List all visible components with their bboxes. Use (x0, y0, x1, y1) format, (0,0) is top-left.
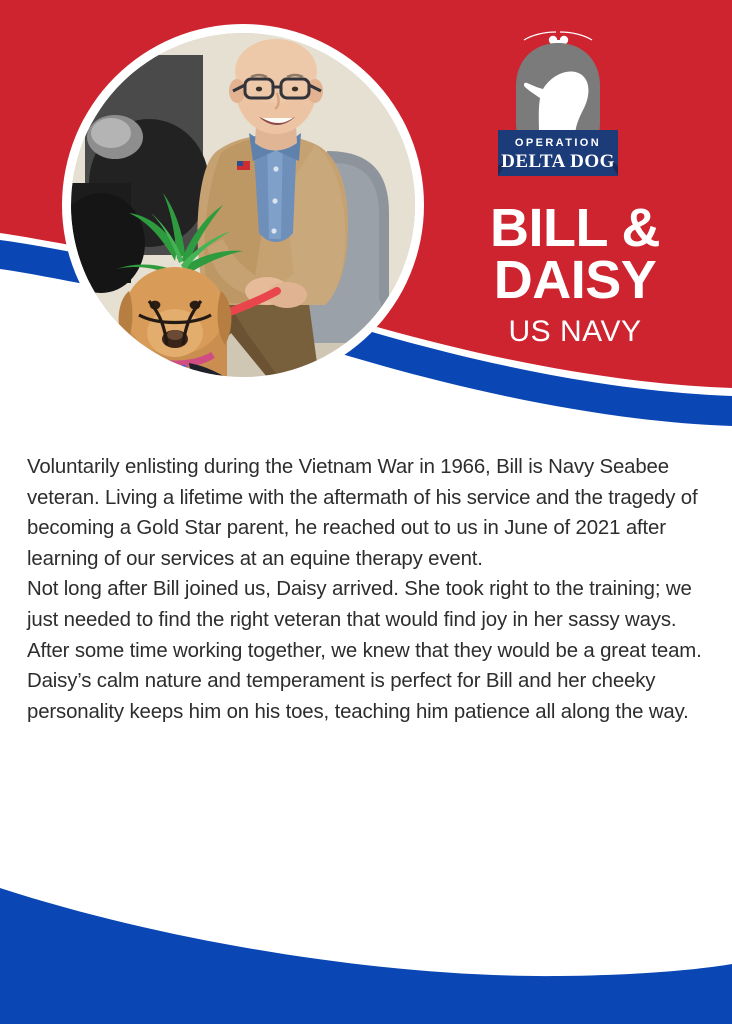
veteran-photo (71, 33, 415, 377)
veteran-photo-frame (62, 24, 424, 386)
tag-chain-icon (524, 32, 592, 40)
logo-banner-line-1: OPERATION (515, 137, 601, 149)
poster-title-line-1: BILL & (440, 202, 710, 254)
story-paragraph-1: Voluntarily enlisting during the Vietnam… (27, 452, 705, 574)
logo-icon: OPERATION DELTA DOG (494, 26, 622, 176)
service-branch-label: US NAVY (440, 315, 710, 349)
poster-title-line-2: DAISY (440, 254, 710, 306)
poster-page: OPERATION DELTA DOG BILL & DAISY US NAVY (0, 0, 732, 1024)
veteran-photo-illustration (71, 33, 415, 377)
blue-footer-wave (0, 888, 732, 1024)
footer-wave-graphic (0, 844, 732, 1024)
story-text: Voluntarily enlisting during the Vietnam… (27, 452, 705, 727)
logo-banner-line-2: DELTA DOG (501, 151, 615, 172)
story-paragraph-2: Not long after Bill joined us, Daisy arr… (27, 574, 705, 727)
operation-delta-dog-logo: OPERATION DELTA DOG (494, 26, 622, 176)
headline-block: BILL & DAISY US NAVY (440, 202, 710, 349)
